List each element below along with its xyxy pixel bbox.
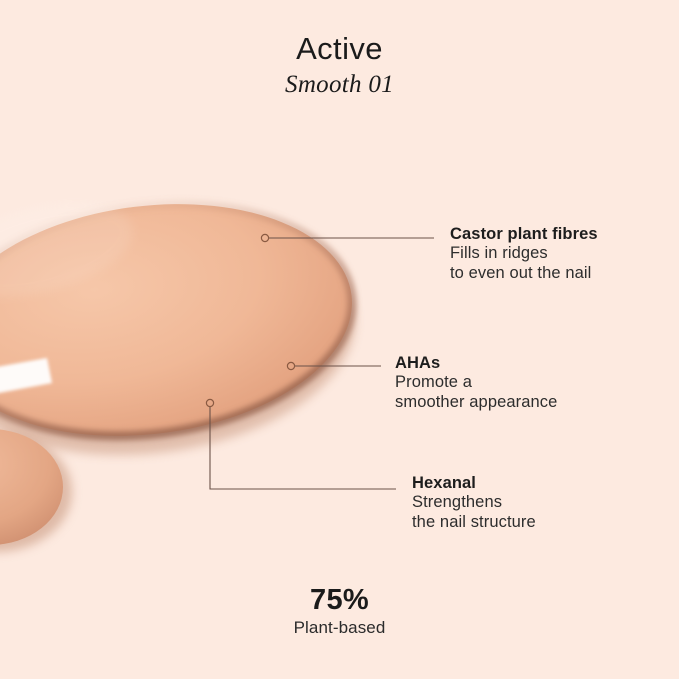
stat-label: Plant-based: [0, 617, 679, 639]
callout-ahas-line-2: smoother appearance: [395, 393, 557, 413]
callout-hexanal-line-2: the nail structure: [412, 513, 536, 533]
page-subtitle: Smooth 01: [0, 68, 679, 102]
callout-ahas-line-1: Promote a: [395, 373, 557, 393]
callout-hexanal-line-1: Strengthens: [412, 493, 536, 513]
callout-hexanal-title: Hexanal: [412, 473, 536, 493]
callout-castor: Castor plant fibres Fills in ridges to e…: [450, 224, 598, 283]
footer-stat: 75% Plant-based: [0, 583, 679, 639]
stat-value: 75%: [0, 583, 679, 617]
leader-line-ahas: [287, 362, 381, 369]
page-title: Active: [0, 30, 679, 68]
marker-dot-hexanal: [206, 399, 213, 406]
callout-castor-line-2: to even out the nail: [450, 264, 598, 284]
callout-castor-line-1: Fills in ridges: [450, 244, 598, 264]
leader-line-castor: [261, 234, 434, 241]
product-infographic: Active Smooth 01 Castor plant fibres Fil…: [0, 0, 679, 679]
marker-dot-castor: [261, 234, 268, 241]
marker-dot-ahas: [287, 362, 294, 369]
callout-ahas-title: AHAs: [395, 353, 557, 373]
callout-castor-title: Castor plant fibres: [450, 224, 598, 244]
leader-line-hexanal: [206, 399, 396, 489]
callout-ahas: AHAs Promote a smoother appearance: [395, 353, 557, 412]
header: Active Smooth 01: [0, 30, 679, 102]
callout-hexanal: Hexanal Strengthens the nail structure: [412, 473, 536, 532]
